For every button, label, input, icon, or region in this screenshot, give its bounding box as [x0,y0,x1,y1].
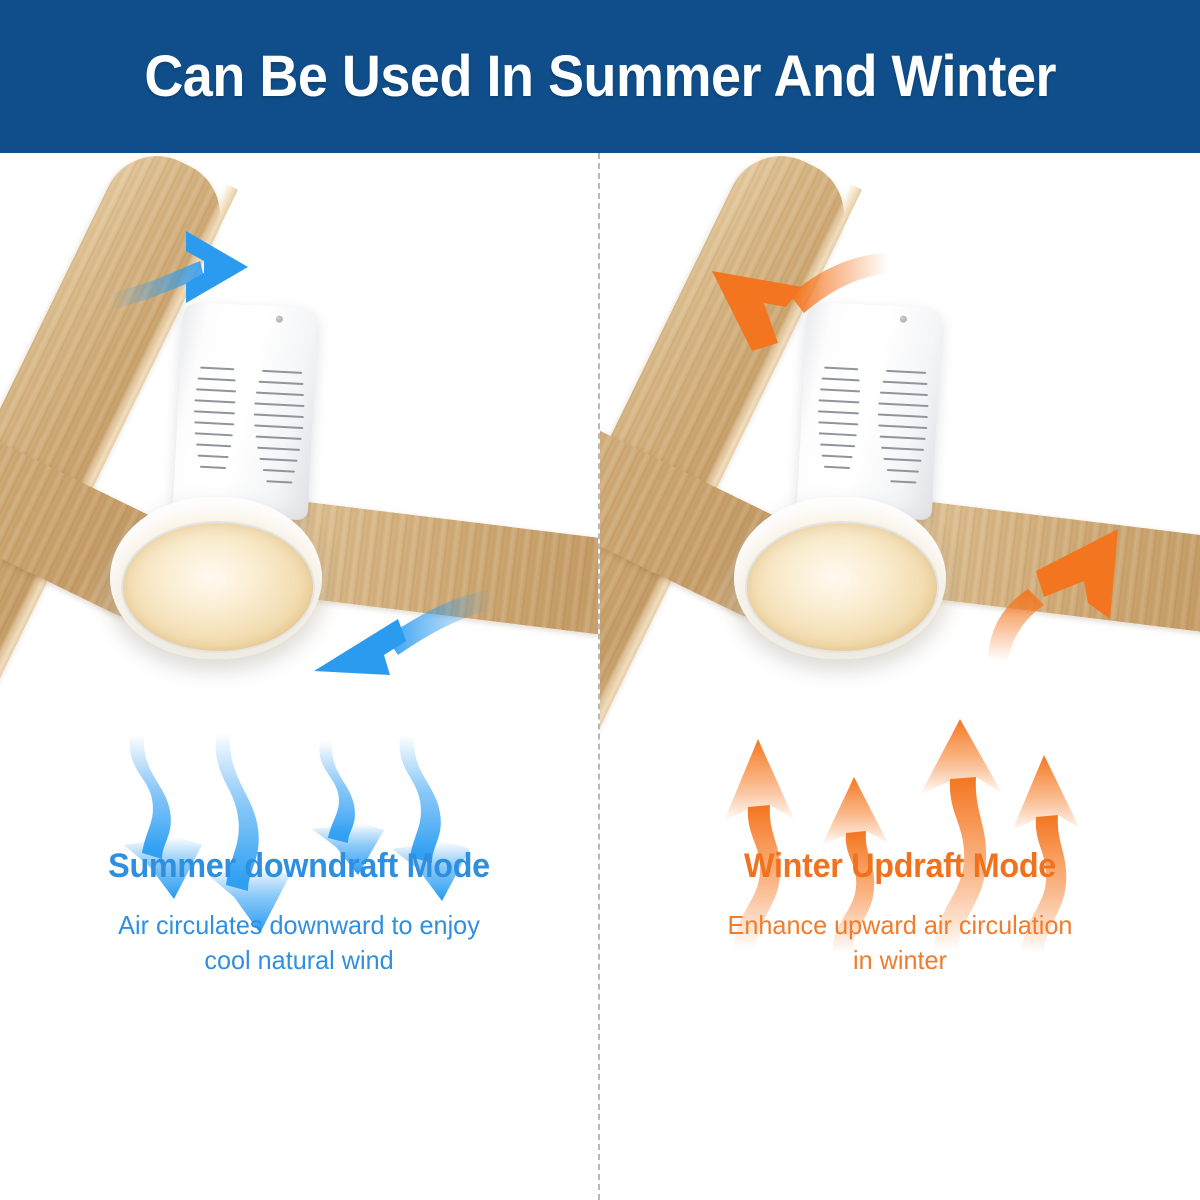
infographic-page: Can Be Used In Summer And Winter [0,0,1200,1200]
comparison-stage: Summer downdraft Mode Air circulates dow… [0,153,1200,1200]
vent-slots-left [190,364,238,486]
led-light-panel [121,521,315,653]
led-light-housing [734,497,946,659]
caption-summer: Summer downdraft Mode Air circulates dow… [0,847,598,977]
panel-winter: Winter Updraft Mode Enhance upward air c… [600,153,1200,1200]
led-light-housing [110,497,322,659]
vent-slots-left [814,364,862,486]
caption-winter: Winter Updraft Mode Enhance upward air c… [600,847,1200,977]
fan-illustration-winter [600,153,1200,767]
vent-slots-right [250,368,306,490]
motor-housing [173,302,319,521]
mode-description-summer: Air circulates downward to enjoy cool na… [9,908,589,977]
header-banner: Can Be Used In Summer And Winter [0,0,1200,153]
vent-slots-right [874,368,930,490]
mode-description-line1: Enhance upward air circulation [609,908,1191,943]
mode-title-winter: Winter Updraft Mode [615,847,1185,886]
mode-description-line2: cool natural wind [9,943,589,978]
page-title: Can Be Used In Summer And Winter [144,43,1056,110]
blade-rotation-arrow-bottom-summer [306,579,496,699]
panel-divider [598,153,600,1200]
blade-rotation-arrow-top-summer [108,215,288,325]
panel-summer: Summer downdraft Mode Air circulates dow… [0,153,598,1200]
led-light-panel [745,521,939,653]
mode-description-winter: Enhance upward air circulation in winter [609,908,1191,977]
blade-rotation-arrow-bottom-winter [982,523,1172,663]
mode-description-line2: in winter [609,943,1191,978]
mode-title-summer: Summer downdraft Mode [15,847,583,886]
mode-description-line1: Air circulates downward to enjoy [9,908,589,943]
fan-illustration-summer [0,153,598,767]
blade-rotation-arrow-top-winter [690,247,890,367]
